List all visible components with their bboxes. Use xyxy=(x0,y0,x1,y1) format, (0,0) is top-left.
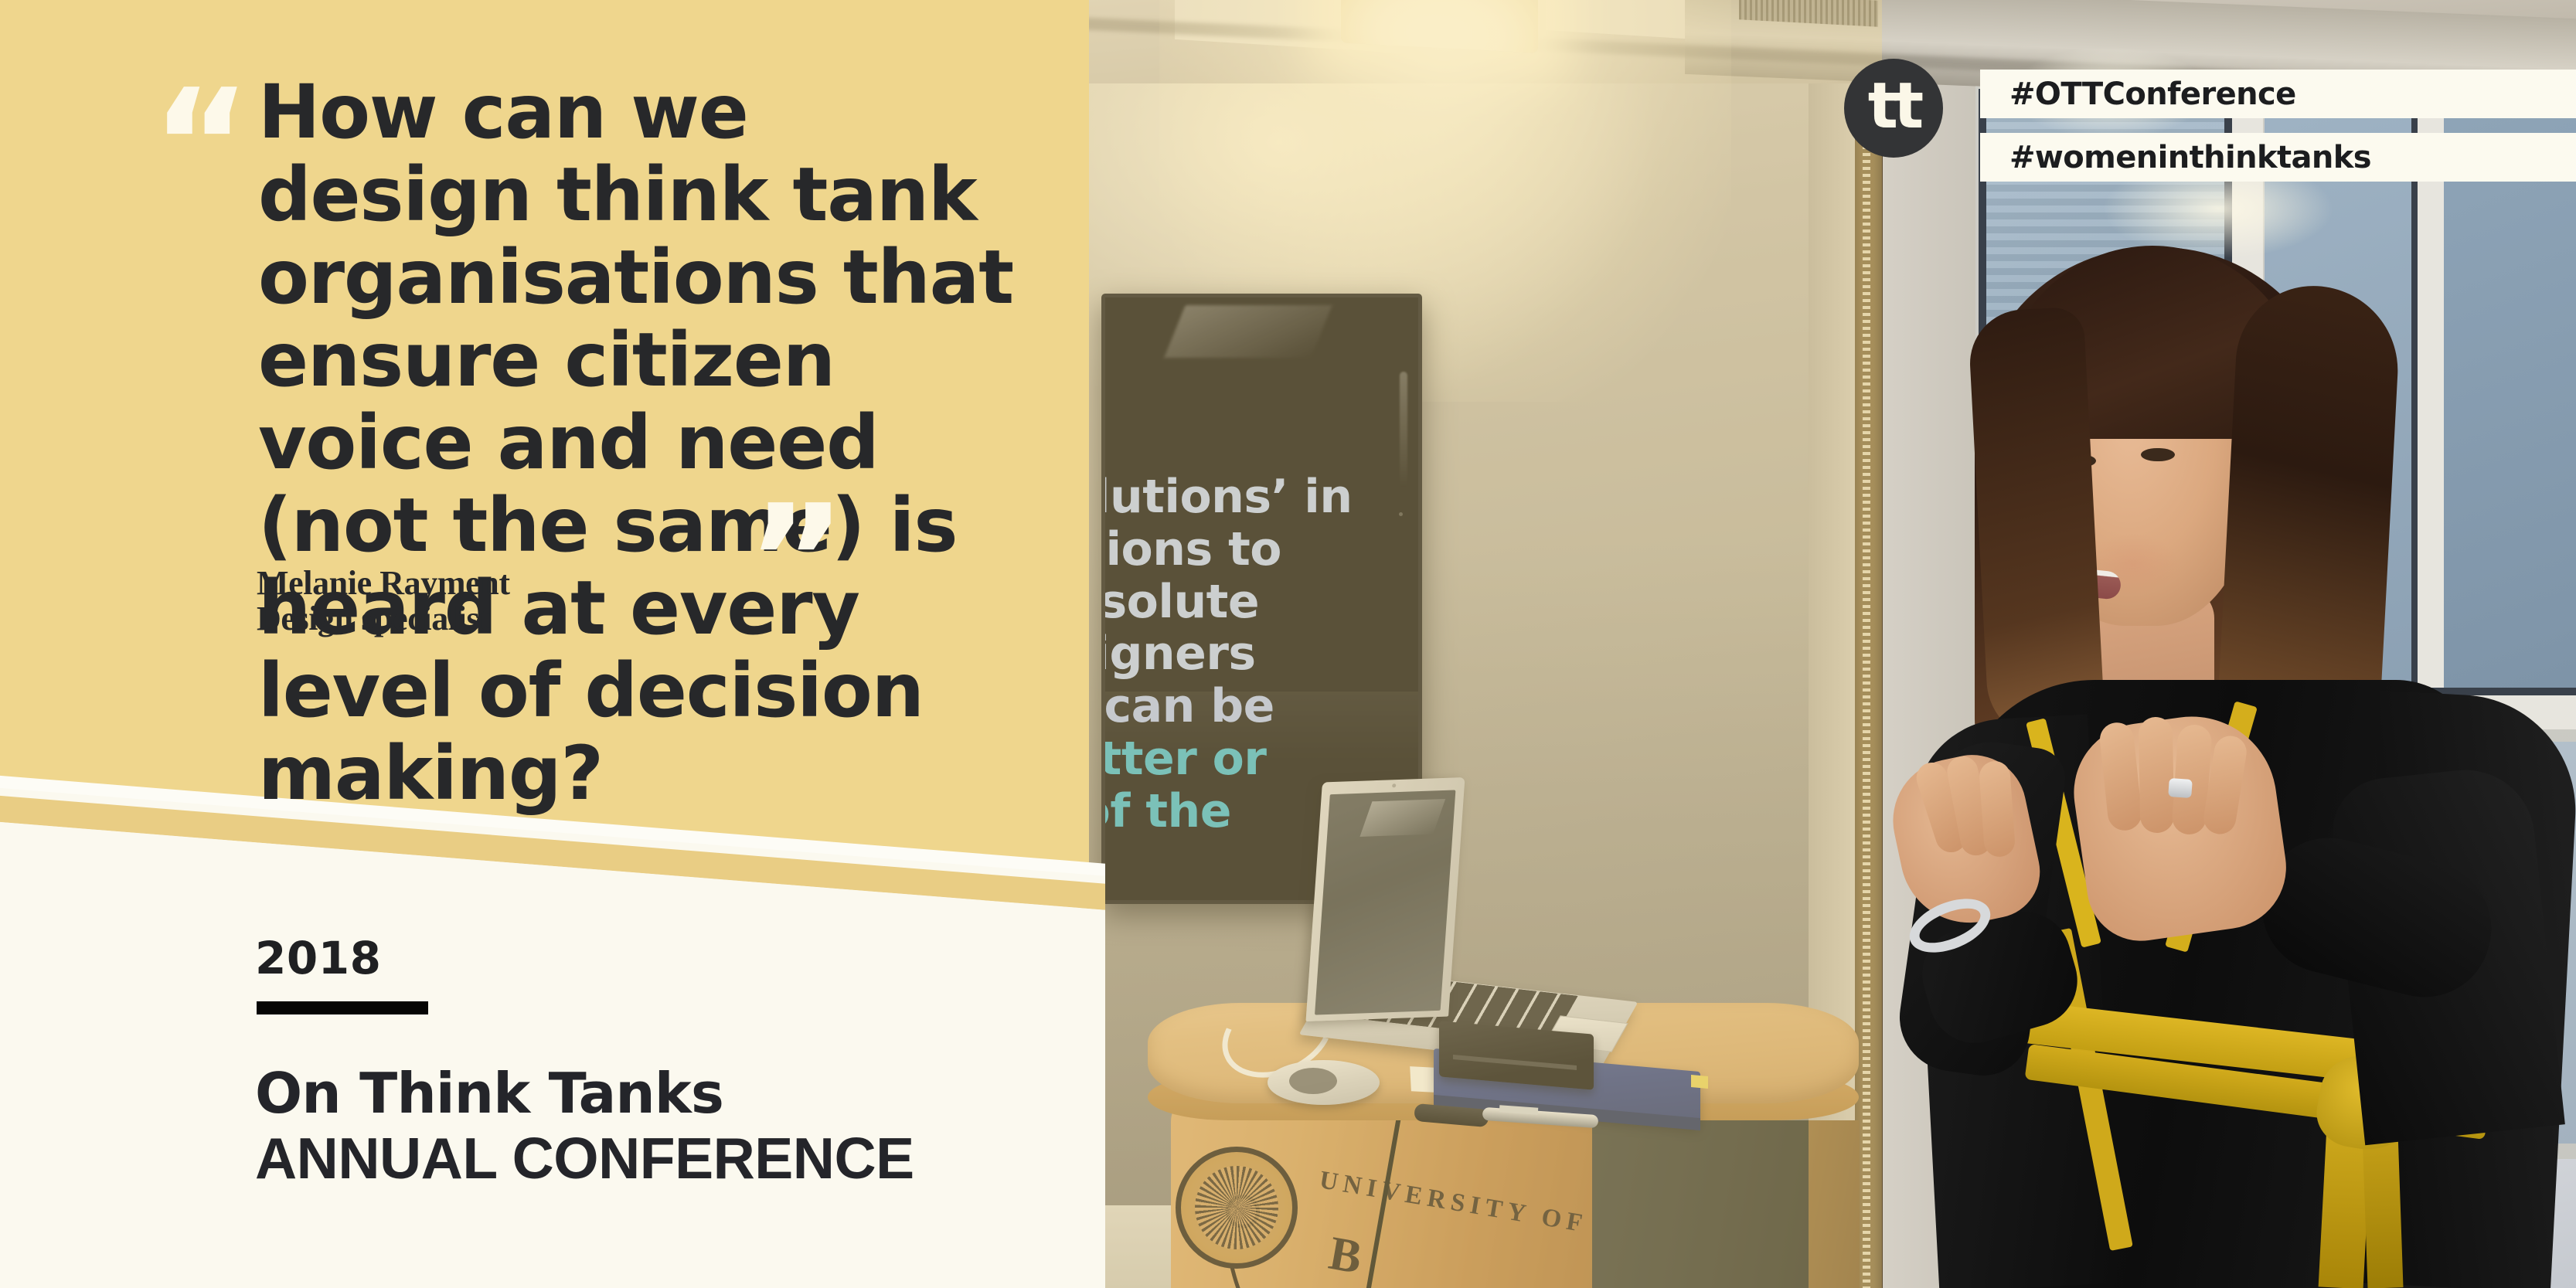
quote-text: How can we design think tank organisatio… xyxy=(258,71,1031,815)
on-think-tanks-logo: tt xyxy=(1844,59,1943,158)
quote-attribution: Melanie Rayment Design specialist xyxy=(257,566,510,637)
belt-tail xyxy=(2362,1131,2403,1288)
quote-close-mark: ” xyxy=(747,507,843,616)
speaker-ring xyxy=(2168,778,2193,798)
yellow-translucent-overlay xyxy=(1089,0,1882,1288)
event-name: ANNUAL CONFERENCE xyxy=(255,1130,920,1188)
speaker-hair-strand xyxy=(1967,306,2105,744)
conference-quote-card: solutions’ in lutions to absolute esigne… xyxy=(0,0,2576,1288)
hashtag-conference: #OTTConference xyxy=(1980,70,2576,118)
speaker-eye xyxy=(2141,448,2175,461)
quote-open-mark: “ xyxy=(151,91,248,200)
hashtag-group: #OTTConference #womeninthinktanks xyxy=(1980,70,2576,182)
event-branding: 2018 On Think Tanks ANNUAL CONFERENCE xyxy=(255,932,920,1188)
event-year: 2018 xyxy=(255,932,920,984)
branding-divider xyxy=(257,1001,428,1014)
organisation-name: On Think Tanks xyxy=(255,1065,920,1121)
speaker-finger xyxy=(1979,760,2016,858)
attribution-name: Melanie Rayment xyxy=(257,566,510,601)
speaker-finger xyxy=(2139,717,2175,834)
hashtag-womeninthinktanks: #womeninthinktanks xyxy=(1980,133,2576,182)
logo-text: tt xyxy=(1868,70,1919,143)
attribution-role: Design specialist xyxy=(257,601,510,637)
